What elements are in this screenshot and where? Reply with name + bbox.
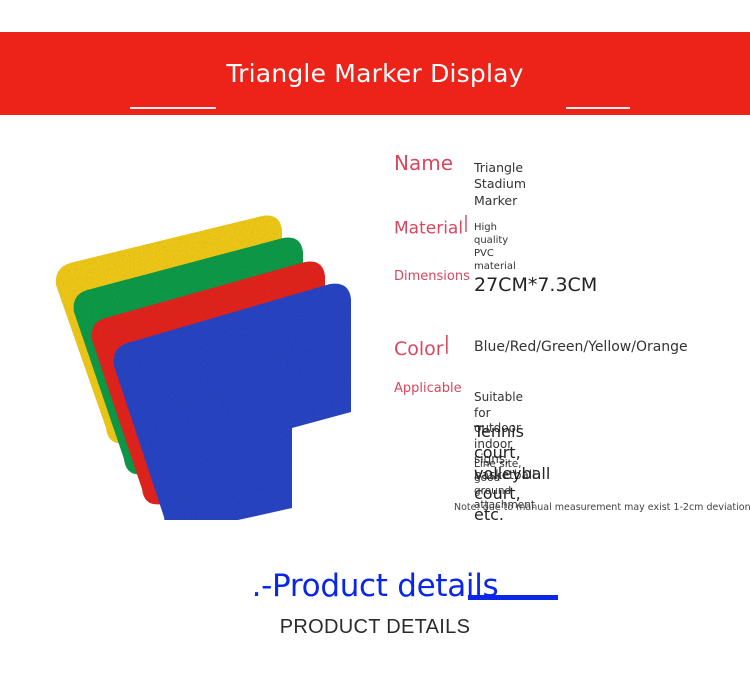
product-details-heading: .-Product details xyxy=(0,568,750,604)
clipped-glyph-icon: | xyxy=(463,214,467,234)
spec-value-color: Blue/Red/Green/Yellow/Orange xyxy=(474,338,688,356)
product-details-section: .-Product details PRODUCT DETAILS xyxy=(0,560,750,660)
spec-label-dimensions: Dimensions xyxy=(394,270,468,285)
spec-label-applicable: Applicable xyxy=(394,382,460,397)
spec-value-dimensions: 27CM*7.3CM xyxy=(474,273,597,298)
product-details-subheading: PRODUCT DETAILS xyxy=(0,616,750,639)
product-details-underline xyxy=(468,595,558,600)
spec-value-name: Triangle Stadium Marker xyxy=(474,160,526,209)
spec-label-color: Color| xyxy=(394,333,448,361)
header-banner: Triangle Marker Display xyxy=(0,32,750,115)
product-photo xyxy=(30,190,390,520)
page-title: Triangle Marker Display xyxy=(0,32,750,115)
spec-label-name: Name xyxy=(394,152,453,175)
marker-stack-illustration xyxy=(30,190,390,520)
spec-value-material: High quality PVC material xyxy=(474,221,516,273)
spec-label-material-text: Material xyxy=(394,219,463,239)
spec-label-color-text: Color xyxy=(394,338,444,360)
measurement-note: Note: due to manual measurement may exis… xyxy=(454,502,750,513)
clipped-glyph-icon: | xyxy=(444,333,448,355)
spec-label-material: Material| xyxy=(394,214,467,239)
banner-rule-right xyxy=(566,107,630,109)
